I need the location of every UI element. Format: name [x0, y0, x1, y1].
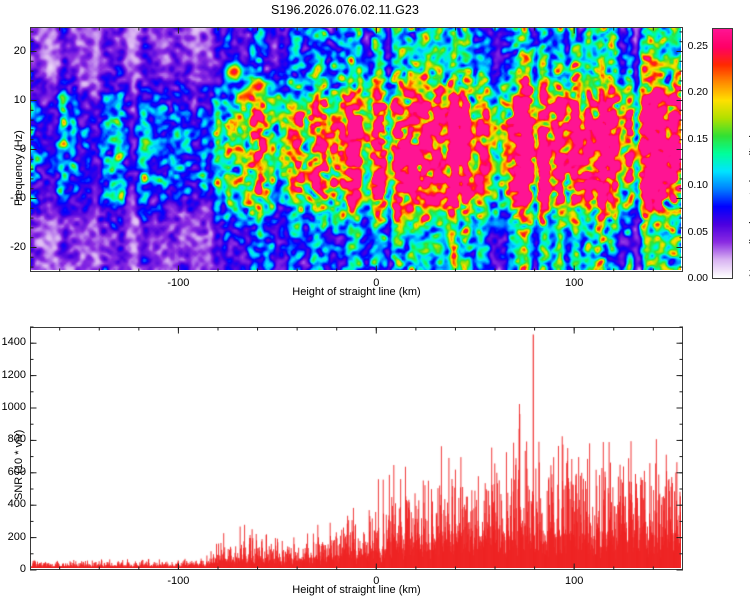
spectrogram-y-tick-label: -20 — [0, 241, 26, 253]
snr-y-tick-label: 200 — [0, 531, 26, 543]
colorbar-tick-label: 0.25 — [678, 40, 708, 52]
colorbar-tick-label: 0.00 — [678, 272, 708, 284]
spectrogram-y-tick-label: 10 — [0, 94, 26, 106]
snr-x-axis-label: Height of straight line (km) — [30, 584, 683, 596]
spectrogram-image — [31, 28, 681, 270]
snr-y-tick-label: 1200 — [0, 369, 26, 381]
snr-y-tick-label: 0 — [0, 563, 26, 575]
spectrogram-y-axis-label: Frequency (Hz) — [13, 130, 25, 206]
snr-panel — [30, 327, 683, 570]
figure-root: S196.2026.076.02.11.G23 -1000100-20-1001… — [0, 0, 750, 600]
snr-y-tick-label: 1000 — [0, 401, 26, 413]
colorbar — [712, 28, 733, 279]
figure-title: S196.2026.076.02.11.G23 — [0, 3, 690, 17]
colorbar-tick-label: 0.05 — [678, 226, 708, 238]
snr-y-axis-label: SNR (10 * v/v) — [13, 430, 25, 500]
colorbar-tick-label: 0.10 — [678, 179, 708, 191]
spectrogram-y-tick-label: 20 — [0, 45, 26, 57]
spectrogram-panel — [30, 27, 683, 272]
spectrogram-x-axis-label: Height of straight line (km) — [30, 286, 683, 298]
colorbar-gradient — [713, 29, 732, 278]
colorbar-tick-label: 0.15 — [678, 133, 708, 145]
snr-trace — [31, 328, 681, 568]
colorbar-tick-label: 0.20 — [678, 86, 708, 98]
snr-y-tick-label: 1400 — [0, 336, 26, 348]
